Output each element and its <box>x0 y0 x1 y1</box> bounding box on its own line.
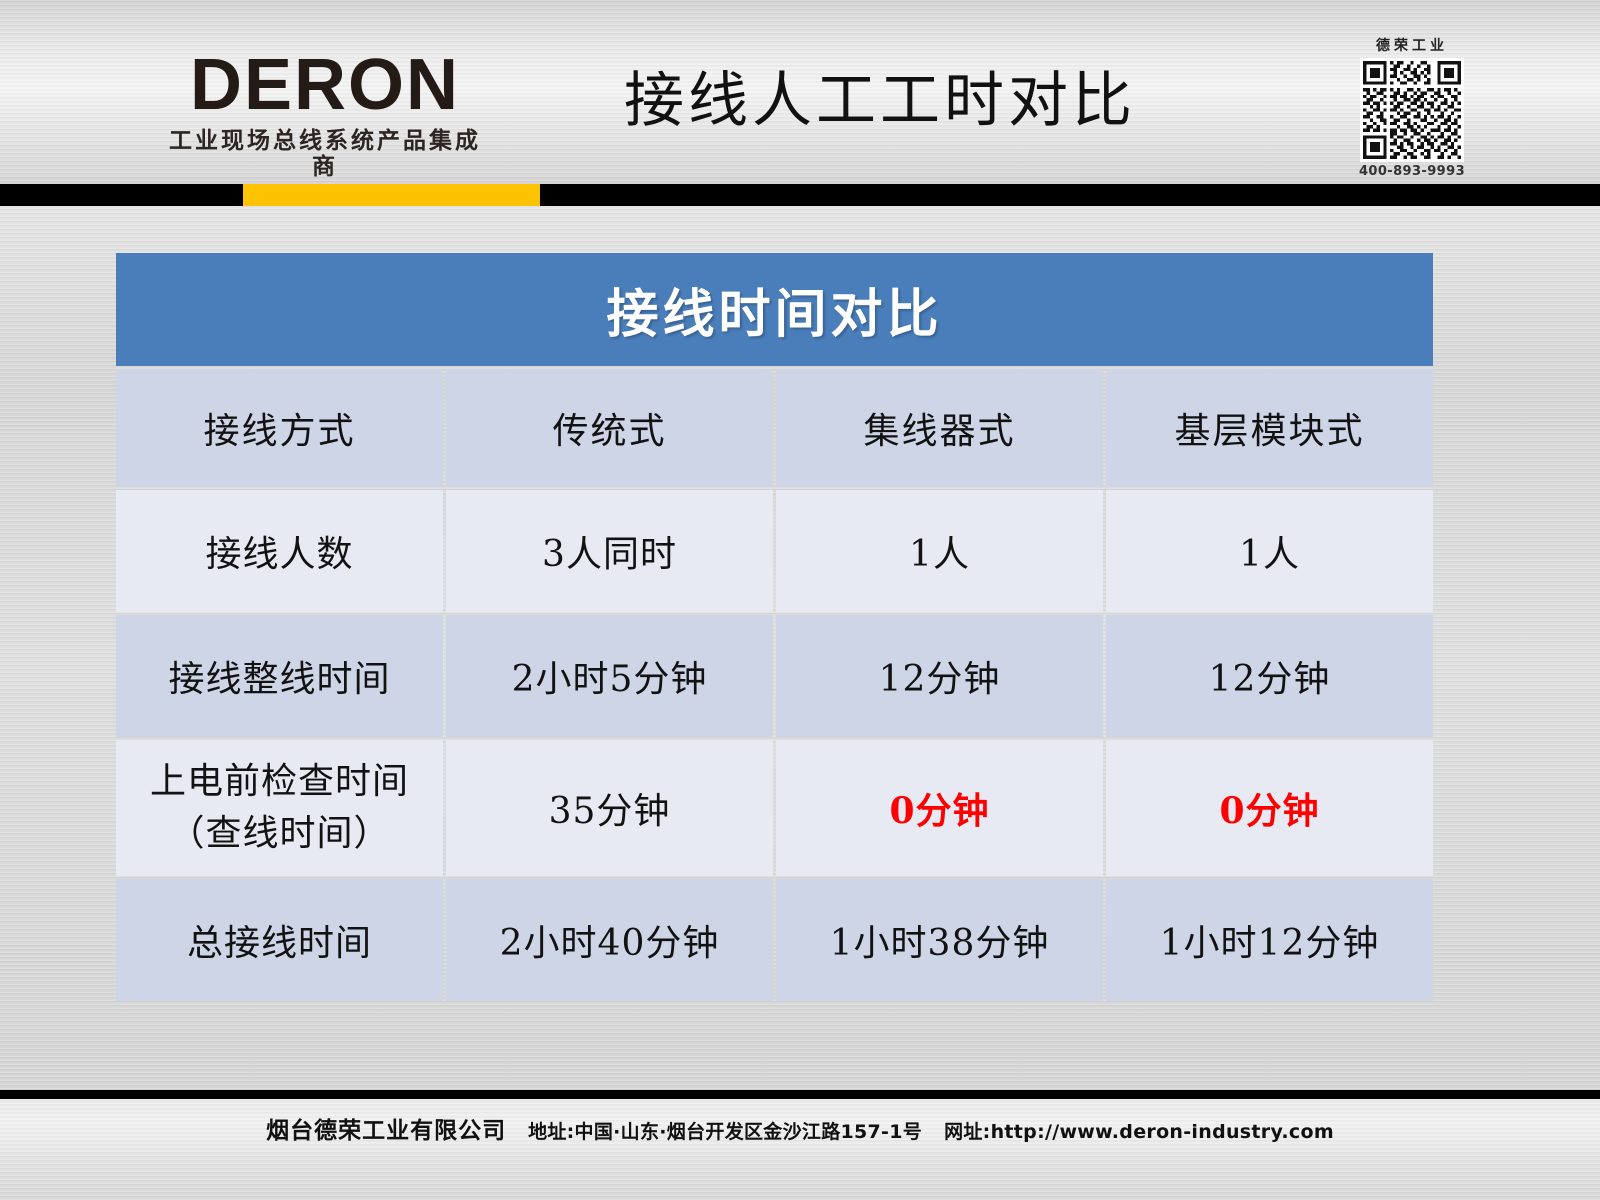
table-row: 总接线时间 2小时40分钟 1小时38分钟 1小时12分钟 <box>116 879 1433 1001</box>
row-value: 1小时12分钟 <box>1106 879 1433 1001</box>
row-label: 总接线时间 <box>116 879 443 1001</box>
row-label: 接线整线时间 <box>116 615 443 737</box>
row-value: 12分钟 <box>776 615 1103 737</box>
row-value-highlight: 0分钟 <box>1106 740 1433 876</box>
qr-caption: 德荣工业 <box>1356 38 1468 55</box>
footer-company-name: 烟台德荣工业有限公司 <box>266 1111 506 1145</box>
logo-tagline: 工业现场总线系统产品集成商 <box>160 128 490 180</box>
contact-phone: 400-893-9993 <box>1356 164 1468 179</box>
row-value: 12分钟 <box>1106 615 1433 737</box>
qr-block: 德荣工业 <box>1356 38 1468 179</box>
table-header-row: 接线方式 传统式 集线器式 基层模块式 <box>116 369 1433 487</box>
row-value: 1小时38分钟 <box>776 879 1103 1001</box>
comparison-table-wrap: 接线时间对比 接线方式 传统式 集线器式 基层模块式 接线人数 3人同时 1人 … <box>113 250 1436 1004</box>
table-row: 接线整线时间 2小时5分钟 12分钟 12分钟 <box>116 615 1433 737</box>
table-row: 接线人数 3人同时 1人 1人 <box>116 490 1433 612</box>
slide-header: DERON 工业现场总线系统产品集成商 接线人工工时对比 德荣工业 <box>0 0 1600 184</box>
footer-website: 网址:http://www.deron-industry.com <box>944 1117 1334 1144</box>
row-label: 接线人数 <box>116 490 443 612</box>
logo-wordmark: DERON <box>160 48 490 122</box>
row-value: 2小时40分钟 <box>446 879 773 1001</box>
row-value: 3人同时 <box>446 490 773 612</box>
header-divider-bar <box>0 184 1600 206</box>
qr-code-icon <box>1360 58 1464 162</box>
row-value: 2小时5分钟 <box>446 615 773 737</box>
column-header-module: 基层模块式 <box>1106 369 1433 487</box>
page-title: 接线人工工时对比 <box>560 62 1200 140</box>
slide-root: DERON 工业现场总线系统产品集成商 接线人工工时对比 德荣工业 <box>0 0 1600 1200</box>
slide-footer: 烟台德荣工业有限公司 地址:中国·山东·烟台开发区金沙江路157-1号 网址:h… <box>0 1099 1600 1200</box>
table-title: 接线时间对比 <box>116 253 1433 366</box>
table-row: 上电前检查时间（查线时间） 35分钟 0分钟 0分钟 <box>116 740 1433 876</box>
footer-address: 地址:中国·山东·烟台开发区金沙江路157-1号 <box>528 1117 922 1144</box>
brand-logo: DERON 工业现场总线系统产品集成商 <box>160 48 490 180</box>
column-header-hub: 集线器式 <box>776 369 1103 487</box>
wiring-time-comparison-table: 接线时间对比 接线方式 传统式 集线器式 基层模块式 接线人数 3人同时 1人 … <box>113 250 1436 1004</box>
row-label: 上电前检查时间（查线时间） <box>116 740 443 876</box>
footer-divider-bar <box>0 1090 1600 1099</box>
column-header-traditional: 传统式 <box>446 369 773 487</box>
row-value: 35分钟 <box>446 740 773 876</box>
row-value-highlight: 0分钟 <box>776 740 1103 876</box>
table-title-row: 接线时间对比 <box>116 253 1433 366</box>
header-accent-bar <box>243 184 540 206</box>
row-value: 1人 <box>776 490 1103 612</box>
row-value: 1人 <box>1106 490 1433 612</box>
column-header-method: 接线方式 <box>116 369 443 487</box>
